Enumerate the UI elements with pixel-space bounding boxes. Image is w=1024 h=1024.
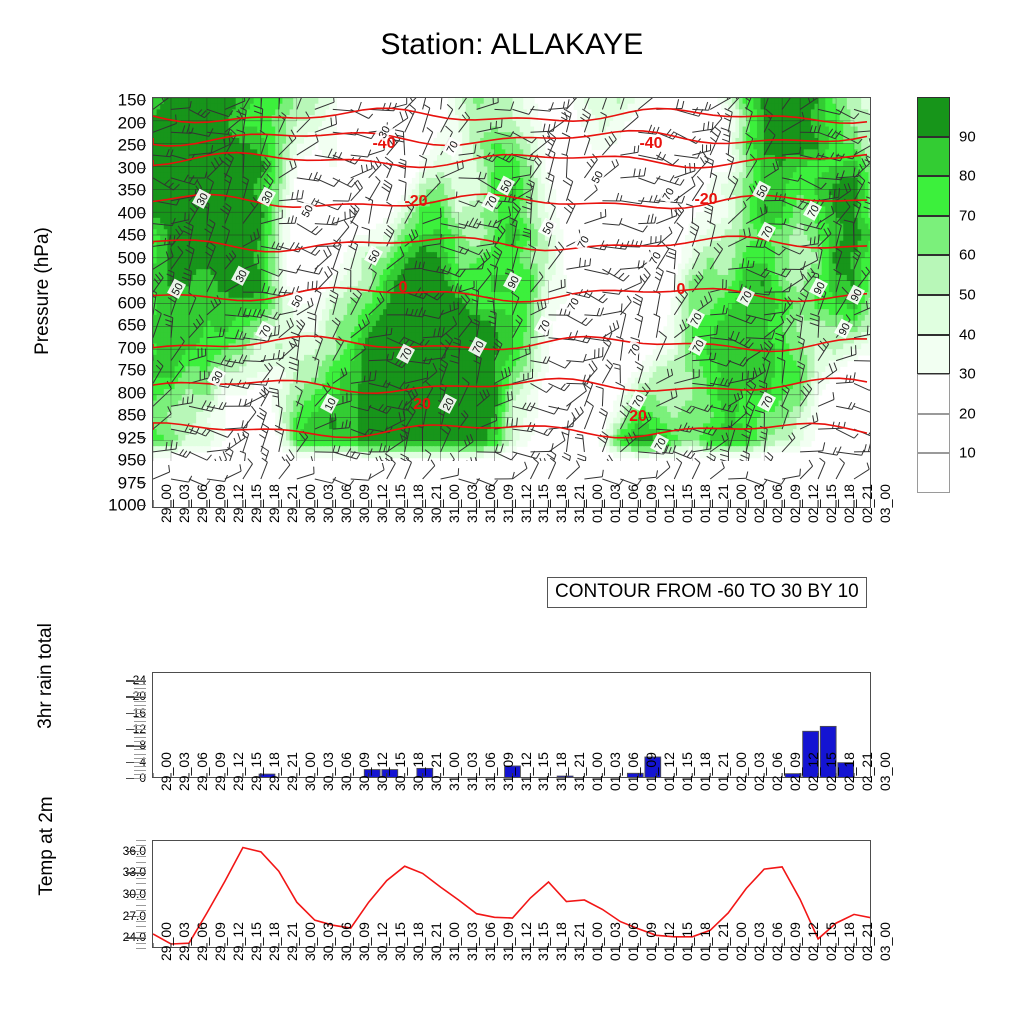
time-tick-label: 02_18 bbox=[841, 484, 857, 523]
time-tick-label: 29_21 bbox=[284, 752, 300, 791]
rain-axis-labels: 04812162024 bbox=[92, 672, 146, 778]
temp-minor-tick bbox=[136, 943, 146, 944]
colorbar-tick-label: 20 bbox=[959, 405, 976, 422]
temp-minor-tick bbox=[136, 899, 146, 900]
time-tick-label: 03_00 bbox=[877, 752, 893, 791]
time-tick-label: 03_00 bbox=[877, 484, 893, 523]
time-tick-label: 29_18 bbox=[266, 922, 282, 961]
colorbar-swatch[interactable] bbox=[917, 97, 950, 137]
time-tick-label: 02_21 bbox=[859, 752, 875, 791]
colorbar-swatch[interactable] bbox=[917, 216, 950, 256]
time-tick-label: 01_06 bbox=[625, 922, 641, 961]
temp-minor-tick bbox=[136, 932, 146, 933]
time-tick-label: 30_18 bbox=[410, 922, 426, 961]
pressure-tick bbox=[138, 100, 146, 101]
time-tick-label: 31_12 bbox=[518, 922, 534, 961]
time-tick-label: 30_18 bbox=[410, 752, 426, 791]
time-tick-label: 01_21 bbox=[715, 922, 731, 961]
time-tick-label: 01_03 bbox=[607, 922, 623, 961]
pressure-axis-title: Pressure (hPa) bbox=[32, 201, 54, 381]
pressure-tick bbox=[138, 280, 146, 281]
rain-minor-tick bbox=[134, 778, 146, 779]
rain-minor-tick bbox=[134, 737, 146, 738]
rain-minor-tick bbox=[134, 754, 146, 755]
time-tick-label: 30_03 bbox=[320, 922, 336, 961]
time-tick-label: 01_00 bbox=[589, 484, 605, 523]
time-tick-label: 31_09 bbox=[500, 752, 516, 791]
pressure-tick bbox=[138, 145, 146, 146]
time-tick-label: 30_15 bbox=[392, 922, 408, 961]
time-tick-label: 30_12 bbox=[374, 922, 390, 961]
rain-minor-tick bbox=[134, 762, 146, 763]
temp-axis-labels: 24.027.030.033.036.0 bbox=[82, 840, 146, 948]
time-tick-label: 30_03 bbox=[320, 484, 336, 523]
time-tick-label: 30_03 bbox=[320, 752, 336, 791]
rain-minor-tick bbox=[134, 749, 146, 750]
temp-minor-tick bbox=[136, 872, 146, 873]
time-tick-label: 01_06 bbox=[625, 484, 641, 523]
temp-minor-tick bbox=[136, 851, 146, 852]
time-tick-label: 01_00 bbox=[589, 752, 605, 791]
temp-minor-tick bbox=[136, 916, 146, 917]
time-tick-label: 29_00 bbox=[158, 752, 174, 791]
time-tick-label: 01_09 bbox=[643, 922, 659, 961]
time-tick-label: 02_15 bbox=[823, 484, 839, 523]
time-tick-label: 30_21 bbox=[428, 922, 444, 961]
time-tick-label: 29_00 bbox=[158, 484, 174, 523]
colorbar-tick-label: 10 bbox=[959, 445, 976, 462]
humidity-colorbar[interactable]: 102030405060708090 bbox=[917, 97, 950, 493]
temp-minor-tick bbox=[136, 894, 146, 895]
pressure-tick bbox=[138, 348, 146, 349]
time-tick-label: 01_03 bbox=[607, 752, 623, 791]
time-tick-label: 29_03 bbox=[176, 922, 192, 961]
time-tick-label: 31_09 bbox=[500, 484, 516, 523]
time-tick-label: 02_09 bbox=[787, 752, 803, 791]
time-tick-label: 02_18 bbox=[841, 922, 857, 961]
temp-minor-tick bbox=[136, 889, 146, 890]
time-tick-label: 30_06 bbox=[338, 484, 354, 523]
time-tick-label: 29_06 bbox=[194, 484, 210, 523]
time-tick-label: 31_00 bbox=[446, 752, 462, 791]
time-tick-label: 01_18 bbox=[697, 484, 713, 523]
pressure-tick bbox=[138, 415, 146, 416]
time-tick-label: 31_03 bbox=[464, 752, 480, 791]
time-tick-label: 02_12 bbox=[805, 484, 821, 523]
time-tick-label: 29_03 bbox=[176, 484, 192, 523]
time-tick-label: 30_09 bbox=[356, 752, 372, 791]
time-tick-label: 31_09 bbox=[500, 922, 516, 961]
pressure-tick bbox=[138, 168, 146, 169]
colorbar-tick-label: 90 bbox=[959, 128, 976, 145]
time-tick-label: 31_03 bbox=[464, 484, 480, 523]
time-tick-label: 31_06 bbox=[482, 922, 498, 961]
time-tick-label: 30_09 bbox=[356, 484, 372, 523]
time-tick-label: 31_00 bbox=[446, 922, 462, 961]
time-tick-label: 31_06 bbox=[482, 484, 498, 523]
rain-minor-tick bbox=[134, 758, 146, 759]
colorbar-swatch[interactable] bbox=[917, 295, 950, 335]
colorbar-swatch[interactable] bbox=[917, 176, 950, 216]
pressure-tick bbox=[138, 325, 146, 326]
time-tick-label: 02_09 bbox=[787, 922, 803, 961]
time-tick-label: 01_03 bbox=[607, 484, 623, 523]
time-tick-label: 01_15 bbox=[679, 484, 695, 523]
time-tick-label: 29_03 bbox=[176, 752, 192, 791]
time-tick-label: 29_00 bbox=[158, 922, 174, 961]
time-tick-label: 31_03 bbox=[464, 922, 480, 961]
pressure-tick bbox=[138, 258, 146, 259]
pressure-tick bbox=[138, 123, 146, 124]
rain-minor-tick bbox=[134, 721, 146, 722]
time-tick-label: 02_03 bbox=[751, 484, 767, 523]
time-tick-label: 29_09 bbox=[212, 922, 228, 961]
time-tick-label: 29_12 bbox=[230, 922, 246, 961]
time-tick-label: 02_00 bbox=[733, 752, 749, 791]
rain-minor-tick bbox=[134, 713, 146, 714]
colorbar-swatch[interactable] bbox=[917, 137, 950, 177]
profile-plot-canvas: -40-40-20-200020203070505070507030305070… bbox=[153, 98, 871, 508]
rain-minor-tick bbox=[134, 733, 146, 734]
temp-minor-tick bbox=[136, 856, 146, 857]
pressure-tick bbox=[138, 460, 146, 461]
rain-minor-tick bbox=[134, 729, 146, 730]
time-tick-label: 02_09 bbox=[787, 484, 803, 523]
colorbar-tick-label: 50 bbox=[959, 287, 976, 304]
pressure-tick bbox=[138, 393, 146, 394]
rain-minor-tick bbox=[134, 725, 146, 726]
time-tick-label: 30_00 bbox=[302, 752, 318, 791]
time-tick-label: 02_06 bbox=[769, 922, 785, 961]
time-tick-label: 03_00 bbox=[877, 922, 893, 961]
rain-minor-tick bbox=[134, 709, 146, 710]
pressure-tick bbox=[138, 190, 146, 191]
time-tick-label: 01_15 bbox=[679, 922, 695, 961]
time-tick-label: 30_12 bbox=[374, 752, 390, 791]
colorbar-swatch[interactable] bbox=[917, 335, 950, 375]
colorbar-tick-label: 70 bbox=[959, 207, 976, 224]
rain-minor-tick bbox=[134, 705, 146, 706]
time-tick-label: 29_09 bbox=[212, 752, 228, 791]
pressure-tick bbox=[138, 235, 146, 236]
time-tick-label: 02_21 bbox=[859, 922, 875, 961]
rain-axis-title: 3hr rain total bbox=[35, 616, 57, 736]
time-tick-label: 31_12 bbox=[518, 752, 534, 791]
time-tick-label: 29_12 bbox=[230, 484, 246, 523]
rain-minor-tick bbox=[134, 741, 146, 742]
time-tick-label: 01_21 bbox=[715, 484, 731, 523]
pressure-tick bbox=[138, 213, 146, 214]
time-tick-label: 29_09 bbox=[212, 484, 228, 523]
time-tick-label: 02_03 bbox=[751, 922, 767, 961]
rain-minor-tick bbox=[134, 745, 146, 746]
temp-axis-title: Temp at 2m bbox=[36, 776, 58, 916]
temp-minor-tick bbox=[136, 878, 146, 879]
rain-minor-tick bbox=[134, 717, 146, 718]
time-tick-label: 02_12 bbox=[805, 752, 821, 791]
time-tick-label: 31_21 bbox=[571, 484, 587, 523]
time-tick-label: 30_21 bbox=[428, 484, 444, 523]
time-tick-label: 31_06 bbox=[482, 752, 498, 791]
time-tick-label: 02_00 bbox=[733, 484, 749, 523]
time-tick-label: 01_09 bbox=[643, 484, 659, 523]
colorbar-swatch[interactable] bbox=[917, 453, 950, 493]
time-tick-label: 02_21 bbox=[859, 484, 875, 523]
time-tick-label: 30_06 bbox=[338, 752, 354, 791]
pressure-tick bbox=[138, 483, 146, 484]
time-tick-label: 29_15 bbox=[248, 484, 264, 523]
time-tick-label: 30_00 bbox=[302, 484, 318, 523]
time-tick-label: 29_18 bbox=[266, 752, 282, 791]
time-tick-label: 02_06 bbox=[769, 484, 785, 523]
time-tick-label: 01_09 bbox=[643, 752, 659, 791]
time-tick-label: 31_15 bbox=[535, 484, 551, 523]
rain-minor-tick bbox=[134, 692, 146, 693]
rain-minor-tick bbox=[134, 774, 146, 775]
time-tick-label: 31_00 bbox=[446, 484, 462, 523]
time-tick-label: 02_12 bbox=[805, 922, 821, 961]
time-tick-label: 02_00 bbox=[733, 922, 749, 961]
rain-minor-tick bbox=[134, 766, 146, 767]
time-tick-label: 29_15 bbox=[248, 922, 264, 961]
profile-plot[interactable]: -40-40-20-200020203070505070507030305070… bbox=[152, 97, 871, 508]
temp-minor-tick bbox=[136, 921, 146, 922]
time-tick-label: 02_15 bbox=[823, 922, 839, 961]
time-tick-label: 29_15 bbox=[248, 752, 264, 791]
time-tick-label: 01_12 bbox=[661, 484, 677, 523]
time-tick-label: 30_15 bbox=[392, 752, 408, 791]
pressure-tick bbox=[138, 505, 146, 506]
time-tick-label: 31_18 bbox=[553, 752, 569, 791]
temp-minor-tick bbox=[136, 840, 146, 841]
temp-minor-tick bbox=[136, 905, 146, 906]
pressure-tick bbox=[138, 370, 146, 371]
contour-caption: CONTOUR FROM -60 TO 30 BY 10 bbox=[547, 577, 867, 608]
time-tick-label: 02_03 bbox=[751, 752, 767, 791]
rain-minor-tick bbox=[134, 701, 146, 702]
time-tick-label: 31_18 bbox=[553, 484, 569, 523]
pressure-tick bbox=[138, 438, 146, 439]
rain-minor-tick bbox=[134, 770, 146, 771]
time-tick-label: 29_12 bbox=[230, 752, 246, 791]
colorbar-swatch[interactable] bbox=[917, 414, 950, 454]
time-tick-label: 01_18 bbox=[697, 752, 713, 791]
time-tick-label: 01_21 bbox=[715, 752, 731, 791]
temp-minor-tick bbox=[136, 948, 146, 949]
rain-minor-tick bbox=[134, 696, 146, 697]
time-tick-label: 01_00 bbox=[589, 922, 605, 961]
time-tick-label: 01_12 bbox=[661, 922, 677, 961]
pressure-axis-labels: 1502002503003504004505005506006507007508… bbox=[60, 97, 146, 508]
time-tick-label: 30_18 bbox=[410, 484, 426, 523]
time-tick-label: 01_18 bbox=[697, 922, 713, 961]
colorbar-swatch[interactable] bbox=[917, 255, 950, 295]
rain-minor-tick bbox=[134, 688, 146, 689]
time-tick-label: 29_06 bbox=[194, 752, 210, 791]
colorbar-tick-label: 60 bbox=[959, 247, 976, 264]
temp-minor-tick bbox=[136, 937, 146, 938]
time-tick-label: 31_18 bbox=[553, 922, 569, 961]
rain-minor-tick bbox=[134, 680, 146, 681]
time-tick-label: 31_15 bbox=[535, 922, 551, 961]
page-title: Station: ALLAKAYE bbox=[0, 28, 1024, 62]
colorbar-swatch[interactable] bbox=[917, 374, 950, 414]
temp-minor-tick bbox=[136, 883, 146, 884]
time-tick-label: 30_09 bbox=[356, 922, 372, 961]
time-tick-label: 29_06 bbox=[194, 922, 210, 961]
time-tick-label: 31_12 bbox=[518, 484, 534, 523]
time-tick-label: 30_21 bbox=[428, 752, 444, 791]
temp-minor-tick bbox=[136, 862, 146, 863]
temp-minor-tick bbox=[136, 845, 146, 846]
time-tick-label: 30_15 bbox=[392, 484, 408, 523]
temp-minor-tick bbox=[136, 926, 146, 927]
time-tick-label: 31_21 bbox=[571, 752, 587, 791]
colorbar-tick-label: 40 bbox=[959, 326, 976, 343]
time-tick-label: 29_18 bbox=[266, 484, 282, 523]
time-tick-label: 30_06 bbox=[338, 922, 354, 961]
time-tick-label: 01_12 bbox=[661, 752, 677, 791]
time-tick-label: 29_21 bbox=[284, 922, 300, 961]
rain-minor-tick bbox=[134, 684, 146, 685]
temp-minor-tick bbox=[136, 910, 146, 911]
colorbar-tick-label: 30 bbox=[959, 366, 976, 383]
time-tick-label: 02_06 bbox=[769, 752, 785, 791]
time-tick-label: 01_06 bbox=[625, 752, 641, 791]
time-tick-label: 02_18 bbox=[841, 752, 857, 791]
time-tick-label: 30_12 bbox=[374, 484, 390, 523]
time-tick-label: 01_15 bbox=[679, 752, 695, 791]
time-tick-label: 31_21 bbox=[571, 922, 587, 961]
colorbar-tick-label: 80 bbox=[959, 168, 976, 185]
time-tick-label: 31_15 bbox=[535, 752, 551, 791]
time-tick-label: 30_00 bbox=[302, 922, 318, 961]
time-tick-label: 02_15 bbox=[823, 752, 839, 791]
pressure-tick bbox=[138, 303, 146, 304]
time-tick-label: 29_21 bbox=[284, 484, 300, 523]
temp-minor-tick bbox=[136, 867, 146, 868]
